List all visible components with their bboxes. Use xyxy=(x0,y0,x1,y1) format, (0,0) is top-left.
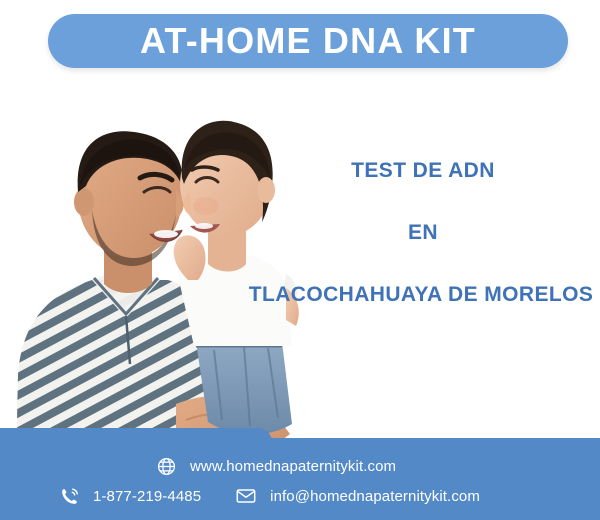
dna-kit-banner: AT-HOME DNA KIT xyxy=(0,0,600,520)
page-title: AT-HOME DNA KIT xyxy=(140,23,476,59)
headline-line-2: EN xyxy=(246,222,600,243)
footer-phone-label: 1-877-219-4485 xyxy=(93,488,201,505)
header-pill: AT-HOME DNA KIT xyxy=(48,14,568,68)
footer-contact-row: 1-877-219-4485 info@homednapaternitykit.… xyxy=(58,485,480,507)
globe-icon xyxy=(155,455,177,477)
footer-website-row[interactable]: www.homednapaternitykit.com xyxy=(155,455,396,477)
envelope-icon xyxy=(235,485,257,507)
headline-line-3-location: TLACOCHAHUAYA DE MORELOS xyxy=(242,284,600,305)
footer-email-group[interactable]: info@homednapaternitykit.com xyxy=(235,485,480,507)
footer-email-label: info@homednapaternitykit.com xyxy=(270,488,480,505)
footer-phone-group[interactable]: 1-877-219-4485 xyxy=(58,485,201,507)
headline-line-1: TEST DE ADN xyxy=(246,160,600,181)
headline-block: TEST DE ADN EN TLACOCHAHUAYA DE MORELOS xyxy=(246,160,600,305)
footer-contact-rows: www.homednapaternitykit.com 1-877-219-44… xyxy=(0,438,600,520)
footer-website-label: www.homednapaternitykit.com xyxy=(190,458,396,475)
phone-icon xyxy=(58,485,80,507)
